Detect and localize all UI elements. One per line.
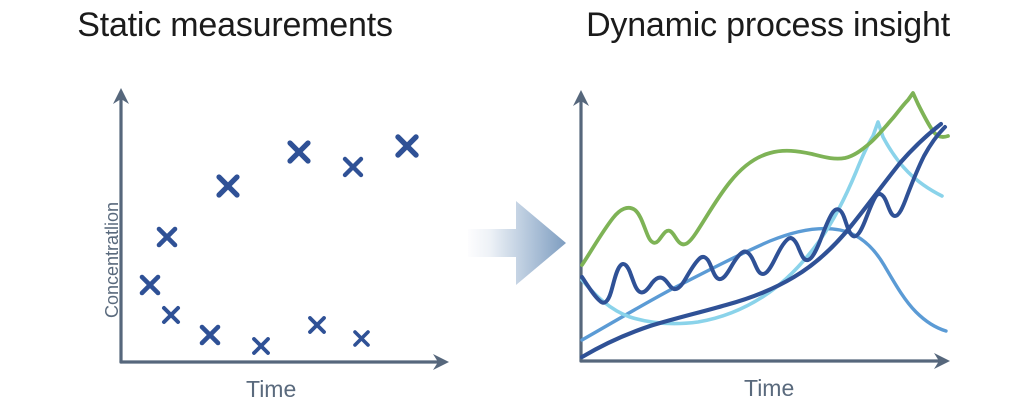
scatter-marker bbox=[159, 229, 175, 245]
scatter-marker bbox=[398, 137, 416, 155]
scatter-marker bbox=[345, 159, 361, 175]
scatter-marker bbox=[290, 143, 308, 161]
x-axis-dynamic bbox=[581, 353, 950, 369]
line-plot-dynamic bbox=[512, 0, 1024, 415]
scatter-marker bbox=[219, 177, 237, 195]
curve-navy-exponential bbox=[582, 124, 941, 357]
panel-dynamic-process-insight: Dynamic process insight bbox=[512, 0, 1024, 415]
y-axis-label-static: Concentratlion bbox=[101, 202, 123, 318]
scatter-marker bbox=[310, 318, 324, 332]
scatter-marker bbox=[164, 308, 178, 322]
scatter-marker bbox=[355, 332, 368, 345]
x-axis-label-static: Time bbox=[246, 375, 296, 403]
y-axis-dynamic bbox=[573, 90, 589, 361]
scatter-marker-group bbox=[142, 137, 416, 353]
scatter-marker bbox=[142, 277, 158, 293]
curve-green-wavy bbox=[582, 93, 948, 265]
x-axis-label-dynamic: Time bbox=[744, 374, 794, 402]
comparison-figure: Static measurements bbox=[0, 0, 1024, 415]
scatter-marker bbox=[202, 327, 218, 343]
panel-static-measurements: Static measurements bbox=[0, 0, 470, 415]
scatter-marker bbox=[254, 339, 268, 353]
scatter-plot-static bbox=[0, 0, 470, 415]
x-axis-static bbox=[121, 354, 449, 370]
